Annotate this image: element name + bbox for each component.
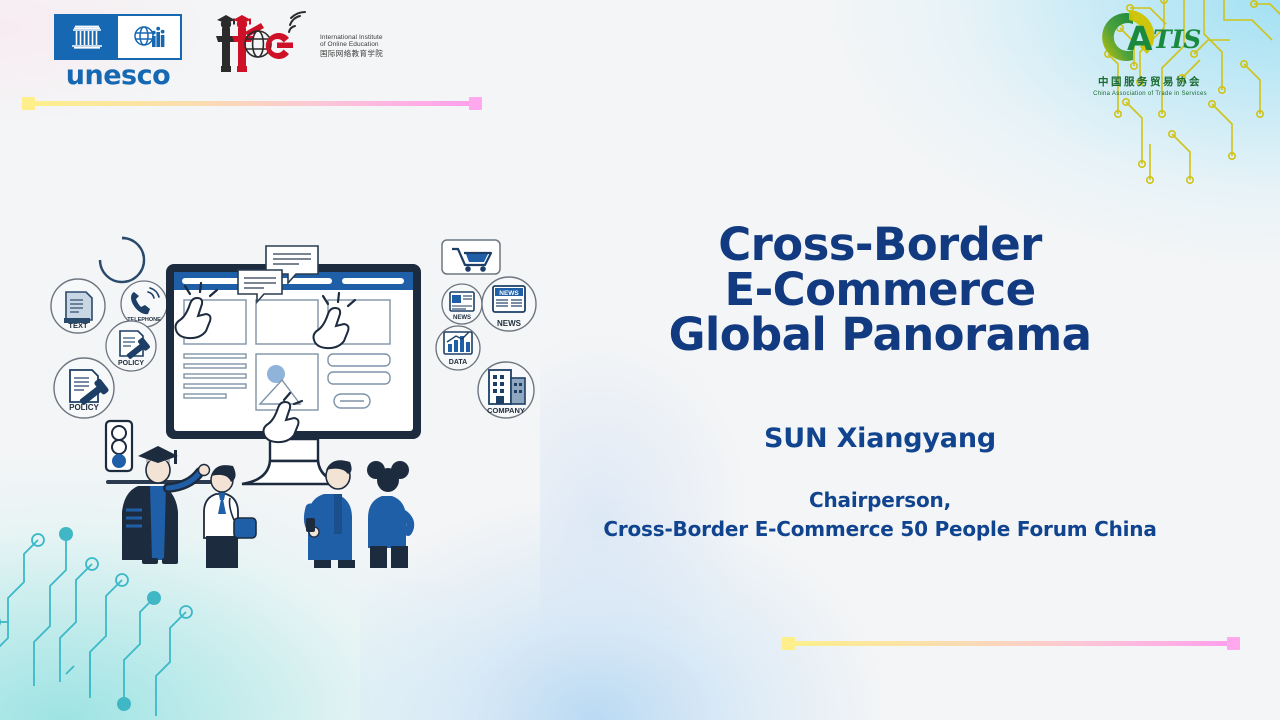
iioe-line2: of Online Education <box>320 41 383 48</box>
unesco-emblem-box <box>54 14 182 60</box>
decorative-line-cap-right <box>1227 637 1240 650</box>
svg-text:NEWS: NEWS <box>499 290 519 297</box>
company-icon: COMPANY <box>478 362 534 418</box>
speaker-role-line-2: Cross-Border E-Commerce 50 People Forum … <box>600 515 1160 544</box>
svg-text:NEWS: NEWS <box>453 315 471 321</box>
decorative-line-top <box>22 101 482 106</box>
parthenon-icon <box>56 16 118 58</box>
iioe-chinese: 国际网络教育学院 <box>320 50 383 58</box>
svg-text:NEWS: NEWS <box>497 319 522 328</box>
title-text-block: Cross-Border E-Commerce Global Panorama … <box>600 222 1160 544</box>
desktop-monitor <box>166 246 421 484</box>
telephone-icon: TELEPHONE <box>121 281 167 327</box>
catis-english: China Association of Trade in Services <box>1075 91 1225 97</box>
svg-text:POLICY: POLICY <box>69 403 99 412</box>
student-woman-figure <box>204 465 256 568</box>
decorative-line-bar <box>795 641 1227 646</box>
dashed-circle-icon <box>100 238 144 282</box>
shopping-cart-icon <box>442 240 500 274</box>
catis-logo: A TIS 中国服务贸易协会 China Association of Trad… <box>1075 6 1225 97</box>
iioe-logo: International Institute of Online Educat… <box>205 10 383 82</box>
title-line-1: Cross-Border <box>600 222 1160 267</box>
online-education-ecommerce-illustration: TEXT TELEPHONE POLICY <box>38 218 558 568</box>
data-icon: DATA <box>436 326 480 370</box>
decorative-line-cap-left <box>22 97 35 110</box>
iioe-line1: International Institute <box>320 34 383 41</box>
policy-icon-small: POLICY <box>106 321 156 371</box>
iioe-mark-icon <box>205 10 317 82</box>
speaker-role-line-1: Chairperson, <box>600 486 1160 515</box>
policy-icon-large: POLICY <box>54 358 114 418</box>
svg-text:POLICY: POLICY <box>118 360 144 367</box>
svg-text:DATA: DATA <box>449 359 467 366</box>
svg-text:TIS: TIS <box>1153 25 1201 54</box>
decorative-line-cap-right <box>469 97 482 110</box>
news-icon-large: NEWS NEWS <box>482 277 536 331</box>
speaker-role: Chairperson, Cross-Border E-Commerce 50 … <box>600 486 1160 544</box>
text-icon: TEXT <box>51 279 105 333</box>
logo-row: unesco <box>0 0 1280 100</box>
title-line-2: E-Commerce <box>600 267 1160 312</box>
catis-mark-icon: A TIS <box>1085 6 1215 68</box>
decorative-line-cap-left <box>782 637 795 650</box>
professor-figure <box>122 446 210 564</box>
news-icon-small: NEWS <box>442 284 482 324</box>
globe-people-icon <box>118 16 180 58</box>
svg-text:A: A <box>1127 19 1153 58</box>
decorative-line-bar <box>35 101 469 106</box>
decorative-line-bottom <box>782 641 1240 646</box>
woman-figure <box>367 461 410 568</box>
catis-chinese: 中国服务贸易协会 <box>1075 74 1225 89</box>
svg-text:COMPANY: COMPANY <box>487 406 525 415</box>
speaker-name: SUN Xiangyang <box>600 423 1160 454</box>
unesco-logo: unesco <box>54 14 182 89</box>
unesco-wordmark: unesco <box>54 62 182 89</box>
page-title: Cross-Border E-Commerce Global Panorama <box>600 222 1160 357</box>
iioe-text-block: International Institute of Online Educat… <box>320 34 383 58</box>
svg-text:TEXT: TEXT <box>68 321 88 330</box>
title-line-3: Global Panorama <box>600 312 1160 357</box>
traffic-light-icon <box>106 421 132 471</box>
